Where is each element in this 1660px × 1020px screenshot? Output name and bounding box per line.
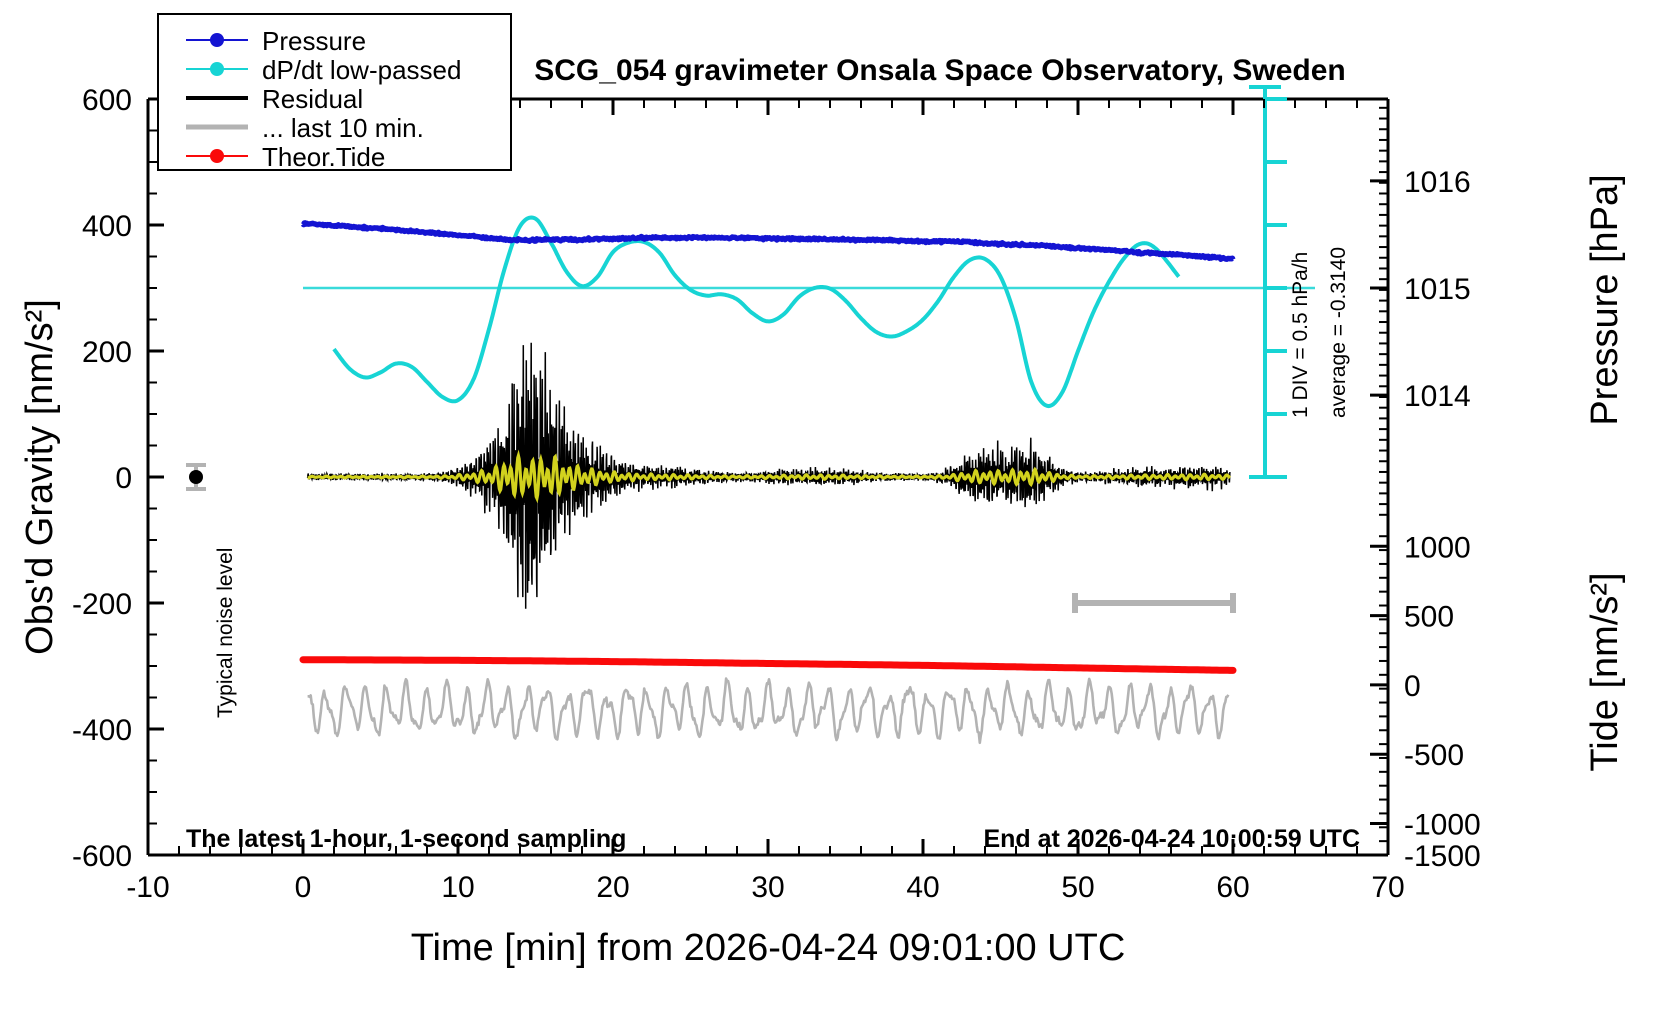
sampling-note: The latest 1-hour, 1-second sampling [186, 825, 626, 853]
tide-tick-label: 500 [1404, 601, 1454, 634]
legend-label-3[interactable]: ... last 10 min. [262, 113, 424, 143]
x-tick-label: 20 [596, 871, 629, 904]
typical-noise-level-label: Typical noise level [214, 548, 237, 718]
x-tick-label: 0 [295, 871, 312, 904]
x-tick-label: 40 [906, 871, 939, 904]
pressure-tick-label: 1016 [1404, 166, 1471, 199]
gravimeter-chart: Typical noise level 1 DIV = 0.5 hPa/h av… [0, 0, 1660, 1020]
tide-tick-label: 0 [1404, 670, 1421, 703]
pressure-tick-label: 1015 [1404, 273, 1471, 306]
y-axis-right-tide-title: Tide [nm/s²] [1584, 572, 1626, 771]
legend-label-2[interactable]: Residual [262, 84, 363, 114]
x-tick-label: 30 [751, 871, 784, 904]
y-axis-left-title: Obs'd Gravity [nm/s²] [19, 299, 61, 655]
x-tick-label: -10 [126, 871, 169, 904]
pressure-tick-label: 1014 [1404, 380, 1471, 413]
end-time-note: End at 2026-04-24 10:00:59 UTC [983, 825, 1360, 853]
legend-label-1[interactable]: dP/dt low-passed [262, 55, 461, 85]
x-tick-label: 50 [1061, 871, 1094, 904]
legend[interactable]: PressuredP/dt low-passedResidual... last… [158, 14, 511, 172]
y-tick-label: -600 [72, 840, 132, 873]
tide-tick-label: -500 [1404, 739, 1464, 772]
y-axis-right-pressure-title: Pressure [hPa] [1584, 174, 1626, 425]
legend-marker-0 [210, 33, 224, 47]
y-tick-label: 200 [82, 336, 132, 369]
y-tick-label: 600 [82, 84, 132, 117]
tide-tick-label: -1000 [1404, 809, 1481, 842]
y-tick-label: -400 [72, 714, 132, 747]
legend-label-4[interactable]: Theor.Tide [262, 142, 385, 172]
scalebar-average-label: average = -0.3140 [1327, 247, 1350, 418]
legend-label-0[interactable]: Pressure [262, 26, 366, 56]
legend-marker-1 [210, 62, 224, 76]
legend-marker-4 [210, 149, 224, 163]
y-tick-label: -200 [72, 588, 132, 621]
x-tick-label: 10 [441, 871, 474, 904]
x-tick-label: 60 [1216, 871, 1249, 904]
x-tick-label: 70 [1371, 871, 1404, 904]
scalebar-div-label: 1 DIV = 0.5 hPa/h [1289, 252, 1312, 418]
tide-tick-label: 1000 [1404, 531, 1471, 564]
page-title: SCG_054 gravimeter Onsala Space Observat… [534, 54, 1346, 87]
y-tick-label: 400 [82, 210, 132, 243]
gravimeter-plot-page: Typical noise level 1 DIV = 0.5 hPa/h av… [0, 0, 1660, 1020]
y-tick-label: 0 [115, 462, 132, 495]
tide-tick-label: -1500 [1404, 840, 1481, 873]
x-axis-title: Time [min] from 2026-04-24 09:01:00 UTC [411, 927, 1126, 969]
